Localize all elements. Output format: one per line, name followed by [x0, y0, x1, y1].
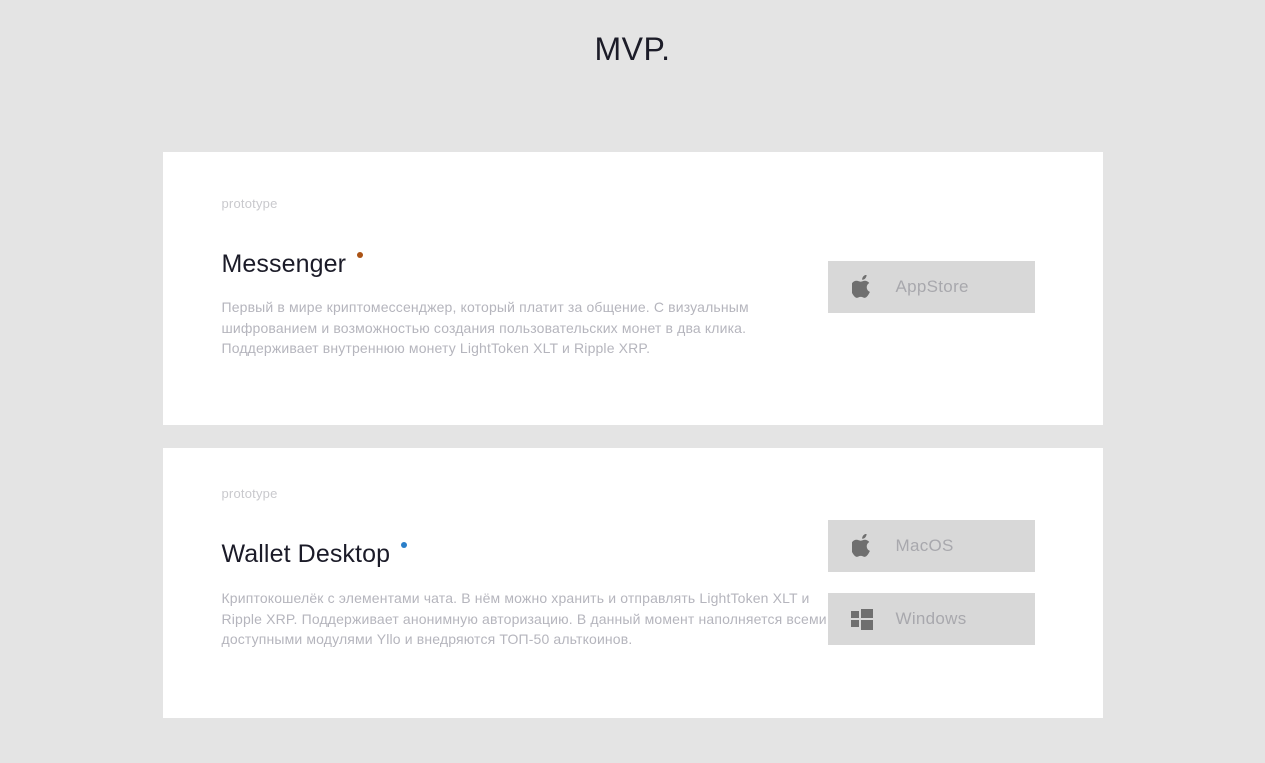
- card-title-text: Wallet Desktop: [222, 540, 391, 568]
- download-button-label: MacOS: [896, 536, 954, 556]
- product-card-list: prototype Messenger Первый в мире крипто…: [0, 152, 1265, 718]
- card-eyebrow-label: prototype: [222, 486, 278, 501]
- download-button-group: AppStore: [828, 261, 1035, 313]
- download-button-group: MacOS Windows: [828, 520, 1035, 645]
- product-card-wallet-desktop: prototype Wallet Desktop Криптокошелёк с…: [163, 448, 1103, 718]
- download-button-label: Windows: [896, 609, 967, 629]
- card-description: Криптокошелёк с элементами чата. В нём м…: [222, 588, 842, 650]
- windows-download-button[interactable]: Windows: [828, 593, 1035, 645]
- apple-icon: [828, 275, 896, 299]
- status-dot-icon: [357, 252, 363, 258]
- macos-download-button[interactable]: MacOS: [828, 520, 1035, 572]
- appstore-download-button[interactable]: AppStore: [828, 261, 1035, 313]
- card-title: Wallet Desktop: [222, 540, 408, 569]
- windows-icon: [828, 609, 896, 630]
- card-content: prototype Messenger Первый в мире крипто…: [163, 152, 1103, 425]
- status-dot-icon: [401, 542, 407, 548]
- card-title-text: Messenger: [222, 250, 347, 278]
- apple-icon: [828, 534, 896, 558]
- card-content: prototype Wallet Desktop Криптокошелёк с…: [163, 448, 1103, 718]
- card-title: Messenger: [222, 250, 364, 279]
- product-card-messenger: prototype Messenger Первый в мире крипто…: [163, 152, 1103, 425]
- card-description: Первый в мире криптомессенджер, который …: [222, 297, 842, 359]
- card-eyebrow-label: prototype: [222, 196, 278, 211]
- page-title: MVP.: [0, 0, 1265, 68]
- download-button-label: AppStore: [896, 277, 969, 297]
